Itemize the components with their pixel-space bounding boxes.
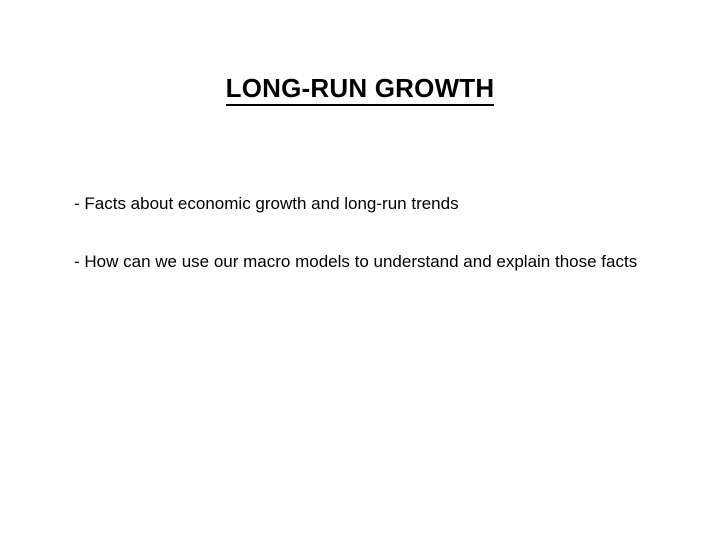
slide-title: LONG-RUN GROWTH xyxy=(0,73,720,106)
slide-body: - Facts about economic growth and long-r… xyxy=(74,192,654,273)
presentation-slide: LONG-RUN GROWTH - Facts about economic g… xyxy=(0,0,720,540)
slide-title-text: LONG-RUN GROWTH xyxy=(226,73,495,106)
bullet-item: - Facts about economic growth and long-r… xyxy=(74,192,654,215)
bullet-item: - How can we use our macro models to und… xyxy=(74,250,654,273)
